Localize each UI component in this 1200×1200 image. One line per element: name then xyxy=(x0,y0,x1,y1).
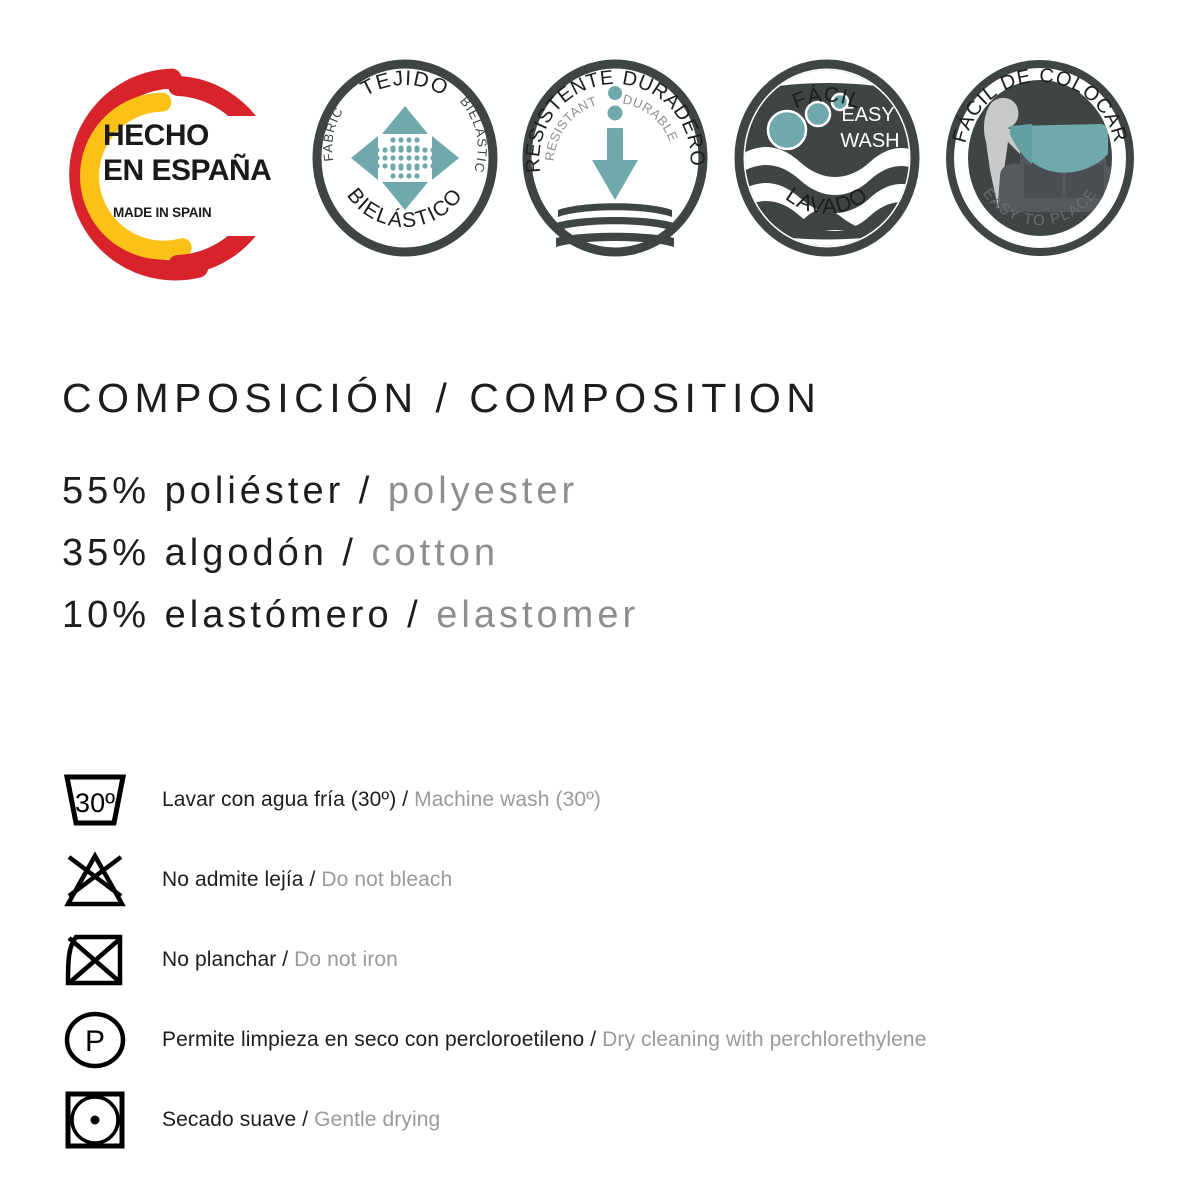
care-row: P Permite limpieza en seco con percloroe… xyxy=(60,1000,1160,1080)
spain-line-3: MADE IN SPAIN xyxy=(113,205,283,220)
care-text: Lavar con agua fría (30º) / Machine wash… xyxy=(162,788,601,812)
care-instructions-list: 30º Lavar con agua fría (30º) / Machine … xyxy=(60,760,1160,1160)
care-text-es: No planchar / xyxy=(162,948,294,971)
spain-line-2: EN ESPAÑA xyxy=(103,153,283,188)
care-text: No admite lejía / Do not bleach xyxy=(162,868,452,892)
care-text-en: Machine wash (30º) xyxy=(414,788,601,811)
composition-item-es: 55% poliéster / xyxy=(62,470,388,512)
care-text-en: Gentle drying xyxy=(314,1108,440,1131)
composition-block: COMPOSICIÓN / COMPOSITION 55% poliéster … xyxy=(62,375,1062,656)
badge-facil-lavado: EASY WASH FÁCIL LAVADO xyxy=(730,58,925,258)
care-row: 30º Lavar con agua fría (30º) / Machine … xyxy=(60,760,1160,840)
care-text: No planchar / Do not iron xyxy=(162,948,398,972)
badge-resistente: RESISTENTE DURADERO RESISTANT DURABLE xyxy=(520,58,710,258)
composition-title: COMPOSICIÓN / COMPOSITION xyxy=(62,375,1062,422)
made-in-spain-text: HECHO EN ESPAÑA MADE IN SPAIN xyxy=(103,118,283,220)
care-text-es: No admite lejía / xyxy=(162,868,321,891)
spain-line-1: HECHO xyxy=(103,118,283,153)
badge1-right-label: BIELASTIC xyxy=(457,94,490,175)
wash-temp-label: 30º xyxy=(75,788,115,818)
do-not-iron-icon xyxy=(60,925,130,995)
composition-item-en: polyester xyxy=(388,470,578,512)
care-text-es: Secado suave / xyxy=(162,1108,314,1131)
care-text: Permite limpieza en seco con percloroeti… xyxy=(162,1028,927,1052)
do-not-bleach-icon xyxy=(60,845,130,915)
composition-item-en: elastomer xyxy=(436,594,639,636)
care-row: Secado suave / Gentle drying xyxy=(60,1080,1160,1160)
badge3-en-line2: WASH xyxy=(840,130,899,152)
composition-list: 55% poliéster / polyester 35% algodón / … xyxy=(62,470,1062,637)
svg-text:BIELASTIC: BIELASTIC xyxy=(457,94,490,175)
composition-item: 35% algodón / cotton xyxy=(62,532,1062,575)
composition-item-es: 35% algodón / xyxy=(62,532,372,574)
composition-item: 10% elastómero / elastomer xyxy=(62,594,1062,637)
care-text-en: Do not bleach xyxy=(321,868,452,891)
care-row: No admite lejía / Do not bleach xyxy=(60,840,1160,920)
care-text-en: Do not iron xyxy=(294,948,398,971)
badge-facil-colocar: FÁCIL DE COLOCAR EASY TO PLACE xyxy=(940,58,1140,258)
composition-item-en: cotton xyxy=(372,532,500,574)
composition-item: 55% poliéster / polyester xyxy=(62,470,1062,513)
wash-30-icon: 30º xyxy=(60,765,130,835)
gentle-drying-icon xyxy=(60,1085,130,1155)
badge-strip: HECHO EN ESPAÑA MADE IN SPAIN xyxy=(0,58,1200,298)
care-text-es: Permite limpieza en seco con percloroeti… xyxy=(162,1028,602,1051)
care-text: Secado suave / Gentle drying xyxy=(162,1108,440,1132)
care-text-es: Lavar con agua fría (30º) / xyxy=(162,788,414,811)
badge-bielastico: TEJIDO BIELÁSTICO FABRIC BIELASTIC xyxy=(310,58,500,258)
composition-item-es: 10% elastómero / xyxy=(62,594,436,636)
care-text-en: Dry cleaning with perchlorethylene xyxy=(602,1028,926,1051)
care-row: No planchar / Do not iron xyxy=(60,920,1160,1000)
dry-clean-letter: P xyxy=(85,1025,105,1058)
dry-clean-p-icon: P xyxy=(60,1005,130,1075)
